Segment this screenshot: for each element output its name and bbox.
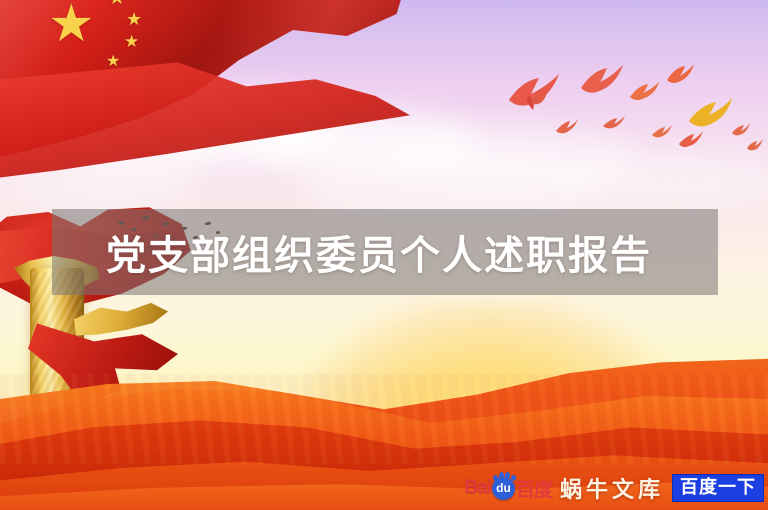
- paw-toes-icon: [493, 472, 514, 480]
- baidu-paw-label: du: [496, 481, 511, 495]
- dove-icon: [746, 138, 764, 152]
- dove-icon: [602, 115, 626, 131]
- dove-icon: [628, 80, 660, 104]
- dove-icon: [530, 92, 548, 106]
- site-brand-text: 蜗牛文库: [560, 472, 664, 504]
- page-title: 党支部组织委员个人述职报告: [106, 223, 652, 281]
- baidu-chinese-text: 百度: [516, 475, 552, 502]
- dove-icon: [731, 122, 751, 138]
- baidu-paw-icon: du: [492, 477, 515, 500]
- title-band: 党支部组织委员个人述职报告: [52, 209, 718, 295]
- watermark: Bai du 百度 蜗牛文库 百度一下: [464, 472, 764, 504]
- flag-star-small: ★: [108, 0, 126, 8]
- flag-star-large: ★: [48, 0, 95, 50]
- dove-icon: [651, 124, 673, 140]
- flag-star-small: ★: [126, 10, 142, 28]
- flag-star-small: ★: [106, 54, 120, 70]
- dove-icon: [678, 130, 704, 150]
- baidu-search-button[interactable]: 百度一下: [672, 474, 764, 503]
- dove-icon: [665, 62, 695, 88]
- flag-star-small: ★: [124, 33, 139, 50]
- banner-image: ★ ★ ★ ★ ★: [0, 0, 768, 510]
- baidu-latin-text: Bai: [464, 477, 491, 499]
- dove-icon: [578, 62, 624, 98]
- dove-icon: [555, 118, 579, 136]
- dove-icon: [686, 95, 734, 131]
- baidu-logo: Bai du 百度: [464, 475, 552, 502]
